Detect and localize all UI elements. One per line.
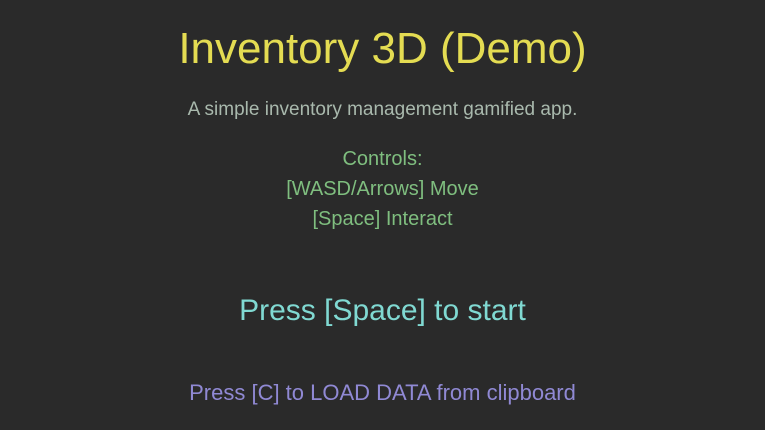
load-clipboard-prompt[interactable]: Press [C] to LOAD DATA from clipboard [0,382,765,404]
game-title: Inventory 3D (Demo) [0,27,765,71]
game-start-screen[interactable]: Inventory 3D (Demo) A simple inventory m… [0,0,765,430]
game-subtitle: A simple inventory management gamified a… [0,100,765,119]
control-move: [WASD/Arrows] Move [0,174,765,204]
start-prompt[interactable]: Press [Space] to start [0,296,765,326]
controls-block: Controls: [WASD/Arrows] Move [Space] Int… [0,144,765,234]
controls-heading: Controls: [0,144,765,174]
control-interact: [Space] Interact [0,204,765,234]
